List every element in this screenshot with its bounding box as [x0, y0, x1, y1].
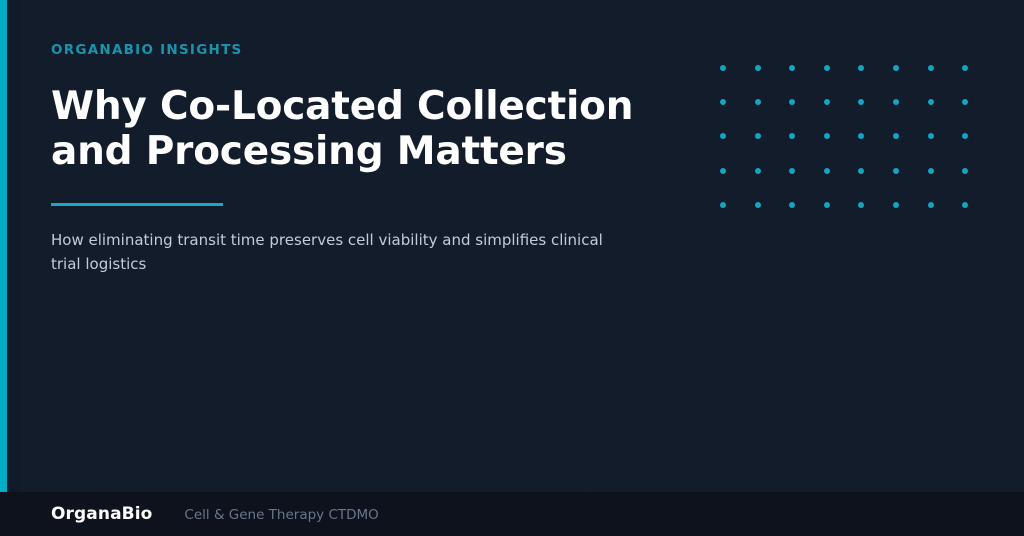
grid-dot	[755, 65, 761, 71]
slide-footer: OrganaBio Cell & Gene Therapy CTDMO	[0, 492, 1024, 536]
eyebrow-label: ORGANABIO INSIGHTS	[51, 42, 671, 58]
brand-tagline: Cell & Gene Therapy CTDMO	[184, 507, 378, 523]
grid-dot	[928, 133, 934, 139]
grid-dot	[962, 133, 968, 139]
left-accent-bar	[0, 0, 7, 492]
grid-dot	[789, 99, 795, 105]
grid-dot	[789, 133, 795, 139]
grid-dot	[720, 202, 726, 208]
grid-dot	[858, 168, 864, 174]
grid-dot	[962, 202, 968, 208]
grid-dot	[893, 99, 899, 105]
grid-dot	[858, 99, 864, 105]
footer-inner: OrganaBio Cell & Gene Therapy CTDMO	[0, 504, 379, 524]
grid-dot	[962, 65, 968, 71]
page-title: Why Co-Located Collection and Processing…	[51, 84, 651, 174]
grid-dot	[824, 168, 830, 174]
grid-dot	[962, 99, 968, 105]
grid-dot	[893, 202, 899, 208]
grid-dot	[720, 65, 726, 71]
brand-wordmark: OrganaBio	[51, 504, 152, 524]
title-underline-rule	[51, 203, 223, 206]
slide-subtitle: How eliminating transit time preserves c…	[51, 228, 626, 277]
grid-dot	[858, 65, 864, 71]
grid-dot	[893, 65, 899, 71]
grid-dot	[789, 168, 795, 174]
grid-dot	[755, 168, 761, 174]
grid-dot	[928, 202, 934, 208]
grid-dot	[962, 168, 968, 174]
grid-dot	[893, 133, 899, 139]
grid-dot	[824, 133, 830, 139]
grid-dot	[755, 99, 761, 105]
grid-dot	[789, 202, 795, 208]
presentation-slide: ORGANABIO INSIGHTS Why Co-Located Collec…	[0, 0, 1024, 536]
grid-dot	[928, 168, 934, 174]
grid-dot	[858, 202, 864, 208]
grid-dot	[824, 202, 830, 208]
grid-dot	[824, 65, 830, 71]
grid-dot	[928, 65, 934, 71]
grid-dot	[720, 168, 726, 174]
grid-dot	[720, 99, 726, 105]
grid-dot	[755, 202, 761, 208]
grid-dot	[928, 99, 934, 105]
grid-dot	[755, 133, 761, 139]
dot-grid-decoration	[720, 65, 997, 236]
grid-dot	[858, 133, 864, 139]
slide-content: ORGANABIO INSIGHTS Why Co-Located Collec…	[51, 0, 671, 291]
grid-dot	[893, 168, 899, 174]
grid-dot	[824, 99, 830, 105]
grid-dot	[720, 133, 726, 139]
background-left-tint	[7, 0, 21, 492]
grid-dot	[789, 65, 795, 71]
